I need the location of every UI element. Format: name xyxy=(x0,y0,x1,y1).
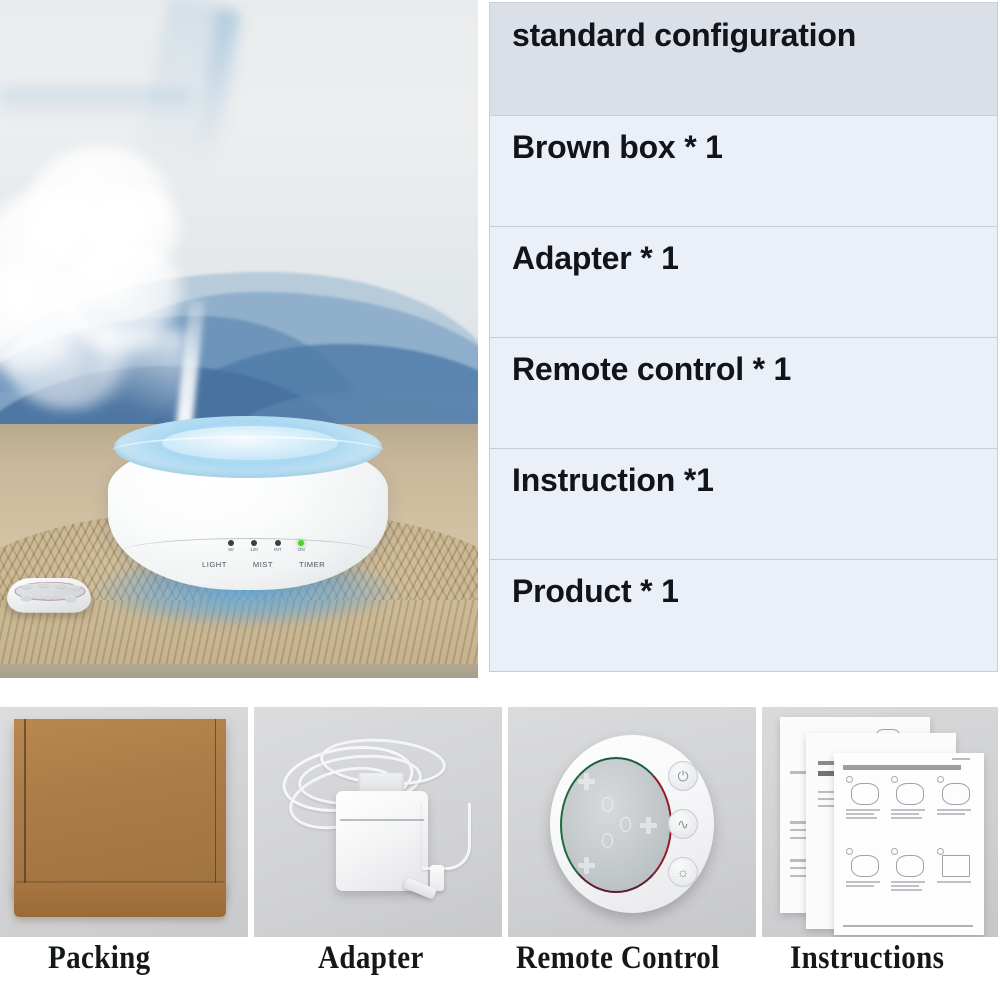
caption-remote-control: Remote Control xyxy=(516,940,720,977)
remote-body xyxy=(1,578,96,613)
step-illustration xyxy=(851,783,879,805)
step-caption-line xyxy=(891,881,925,883)
thumbnail-packing xyxy=(0,707,248,937)
instruction-step xyxy=(888,777,929,845)
config-item-label: Product * 1 xyxy=(512,572,679,610)
step-caption-line xyxy=(937,881,971,883)
step-caption-line xyxy=(846,885,874,887)
led-label: 120 xyxy=(250,548,258,553)
remote-button xyxy=(55,583,66,588)
instruction-step xyxy=(888,849,929,917)
plus-icon xyxy=(578,773,595,790)
step-caption-line xyxy=(891,809,925,811)
oval-icon xyxy=(602,797,613,812)
step-number xyxy=(891,776,898,783)
thumbnail-adapter xyxy=(254,707,502,937)
oval-icon xyxy=(602,833,613,848)
remote-button xyxy=(70,585,82,590)
step-caption-line xyxy=(891,885,919,887)
step-illustration xyxy=(896,783,924,805)
remote-button xyxy=(20,595,32,601)
adapter-seam xyxy=(340,819,424,821)
instruction-step-grid xyxy=(843,777,975,917)
cardboard-box-top xyxy=(14,719,226,897)
step-illustration xyxy=(942,783,970,805)
power-button-icon: ⏻ xyxy=(668,761,698,791)
config-item-label: Brown box * 1 xyxy=(512,128,723,166)
panel-label-mist: MIST xyxy=(253,560,273,569)
control-panel: 60 120 INT ON LIGHT xyxy=(228,540,358,582)
caption-adapter: Adapter xyxy=(318,940,424,977)
adapter-brick xyxy=(336,791,428,891)
step-caption-line xyxy=(891,817,922,819)
step-caption-line xyxy=(891,889,922,891)
step-caption-line xyxy=(891,813,919,815)
top-section: 60 120 INT ON LIGHT xyxy=(0,0,1000,700)
table-header-row: standard configuration xyxy=(490,3,997,116)
step-caption-line xyxy=(937,809,971,811)
hero-product-photo: 60 120 INT ON LIGHT xyxy=(0,0,478,678)
remote-control-on-mat xyxy=(8,572,90,624)
panel-label-light: LIGHT xyxy=(202,560,227,569)
table-row: Product * 1 xyxy=(490,560,997,671)
standard-configuration-table: standard configuration Brown box * 1 Ada… xyxy=(489,2,998,672)
sheet-footer-bar xyxy=(843,925,973,927)
led-group-on: ON xyxy=(298,540,305,553)
instruction-step xyxy=(934,849,975,917)
led-group-120: 120 xyxy=(250,540,258,553)
step-number xyxy=(846,848,853,855)
config-item-label: Adapter * 1 xyxy=(512,239,679,277)
step-number xyxy=(937,776,944,783)
table-row: Brown box * 1 xyxy=(490,116,997,227)
step-number xyxy=(846,776,853,783)
box-fold-line xyxy=(24,719,26,897)
thumbnail-remote-control: ⏻ ∿ ☼ xyxy=(508,707,756,937)
light-button-icon: ☼ xyxy=(668,857,698,887)
panel-label-timer: TIMER xyxy=(299,560,325,569)
instruction-step xyxy=(934,777,975,845)
box-fold-line xyxy=(215,719,217,897)
led-indicators: 60 120 INT ON xyxy=(228,540,305,553)
step-number xyxy=(891,848,898,855)
led-indicator-active xyxy=(298,540,304,546)
cardboard-box-front xyxy=(14,883,226,917)
led-label: 60 xyxy=(228,548,233,553)
led-group-int: INT xyxy=(274,540,282,553)
led-indicator xyxy=(275,540,281,546)
step-caption-line xyxy=(846,809,880,811)
step-caption-line xyxy=(846,881,880,883)
panel-section-labels: LIGHT MIST TIMER xyxy=(202,560,382,569)
caption-instructions: Instructions xyxy=(790,940,944,977)
led-label: ON xyxy=(298,548,305,553)
sheet-header-bar xyxy=(843,765,961,770)
step-illustration xyxy=(896,855,924,877)
photo-bottom-strip xyxy=(0,664,478,678)
step-number xyxy=(937,848,944,855)
step-illustration xyxy=(851,855,879,877)
thumbnail-captions: Packing Adapter Remote Control Instructi… xyxy=(0,940,1000,1000)
remote-button xyxy=(64,595,77,601)
table-row: Remote control * 1 xyxy=(490,338,997,449)
led-group-60: 60 xyxy=(228,540,234,553)
caption-packing: Packing xyxy=(48,940,151,977)
instruction-step xyxy=(843,777,884,845)
accessory-thumbnail-strip: ⏻ ∿ ☼ xyxy=(0,707,1000,937)
step-caption-line xyxy=(937,813,965,815)
sheet-text-line xyxy=(952,758,970,760)
thumbnail-instructions xyxy=(762,707,998,937)
mist-mode-button-icon: ∿ xyxy=(668,809,698,839)
step-caption-line xyxy=(846,817,877,819)
led-indicator xyxy=(251,540,257,546)
plus-icon xyxy=(578,857,595,874)
mist-cloud xyxy=(86,186,182,282)
sky-streak xyxy=(0,88,190,118)
plus-icon xyxy=(640,817,657,834)
remote-button xyxy=(38,583,49,588)
diffuser-rim-highlight xyxy=(110,436,386,468)
table-header-label: standard configuration xyxy=(512,16,856,54)
instruction-sheet-front xyxy=(834,753,984,935)
step-illustration xyxy=(942,855,970,877)
oval-icon xyxy=(620,817,631,832)
config-item-label: Remote control * 1 xyxy=(512,350,791,388)
config-item-label: Instruction *1 xyxy=(512,461,714,499)
table-row: Adapter * 1 xyxy=(490,227,997,338)
led-indicator xyxy=(228,540,234,546)
instruction-step xyxy=(843,849,884,917)
step-caption-line xyxy=(846,813,874,815)
led-label: INT xyxy=(274,548,282,553)
remote-control-body: ⏻ ∿ ☼ xyxy=(550,735,714,913)
dc-output-cord xyxy=(422,803,471,870)
aroma-diffuser: 60 120 INT ON LIGHT xyxy=(108,416,388,594)
remote-dial-pad xyxy=(560,757,672,893)
remote-button xyxy=(42,594,54,600)
table-row: Instruction *1 xyxy=(490,449,997,560)
